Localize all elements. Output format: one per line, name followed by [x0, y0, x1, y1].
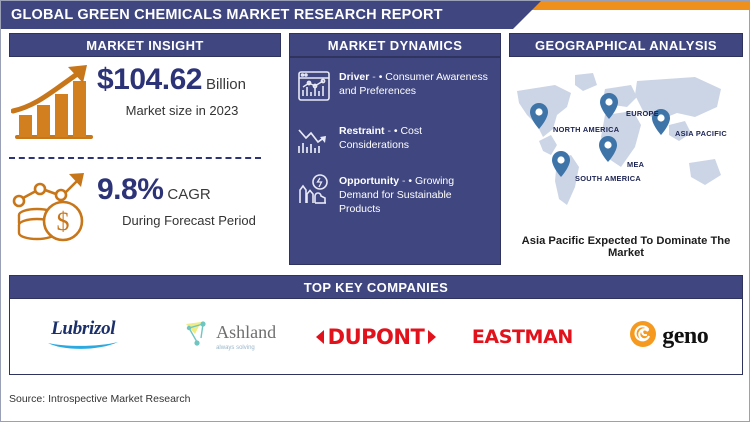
dashboard-analytics-icon — [296, 68, 332, 104]
market-dynamics-body: Driver - • Consumer Awareness and Prefer… — [289, 57, 501, 265]
hand-idea-growth-icon — [296, 172, 332, 208]
ashland-wordmark: Ashland — [216, 322, 276, 343]
bar-chart-growth-icon — [11, 63, 95, 148]
ashland-molecule-icon — [183, 318, 213, 355]
svg-text:$: $ — [57, 207, 70, 236]
market-size-value: $104.62 — [97, 65, 202, 95]
company-logo-ashland: Ashland always solving — [160, 307, 300, 367]
market-size-text: $104.62Billion Market size in 2023 — [97, 65, 281, 118]
cagr-row: $ 9.8%CAGR During Forecast Period — [9, 153, 281, 249]
market-insight-body: $104.62Billion Market size in 2023 — [9, 57, 281, 265]
company-logo-dupont: DUPONT — [306, 307, 446, 367]
cagr-text: 9.8%CAGR During Forecast Period — [97, 175, 281, 228]
declining-chart-icon — [296, 122, 332, 158]
header-banner: GLOBAL GREEN CHEMICALS MARKET RESEARCH R… — [1, 1, 541, 29]
company-logo-lubrizol: Lubrizol — [13, 307, 153, 367]
eastman-wordmark: EASTMAN — [472, 326, 573, 348]
market-dynamics-heading: MARKET DYNAMICS — [289, 33, 501, 57]
dynamics-opportunity-label: Opportunity — [339, 175, 399, 187]
map-label-south-america: SOUTH AMERICA — [575, 174, 641, 183]
dynamics-driver-text: Driver - • Consumer Awareness and Prefer… — [339, 68, 492, 104]
cagr-value: 9.8% — [97, 175, 163, 205]
market-size-row: $104.62Billion Market size in 2023 — [9, 57, 281, 153]
top-key-companies-body: Lubrizol — [9, 299, 743, 375]
market-size-unit: Billion — [202, 76, 246, 93]
world-map — [509, 63, 743, 223]
geographical-analysis-panel: GEOGRAPHICAL ANALYSIS — [509, 33, 743, 265]
geographical-caption: Asia Pacific Expected To Dominate The Ma… — [509, 235, 743, 259]
map-label-north-america: NORTH AMERICA — [553, 125, 619, 134]
dupont-wordmark: DUPONT — [328, 325, 425, 349]
market-insight-heading: MARKET INSIGHT — [9, 33, 281, 57]
dynamics-restraint-label: Restraint — [339, 125, 385, 137]
company-logo-eastman: EASTMAN — [452, 307, 592, 367]
top-key-companies-heading: TOP KEY COMPANIES — [9, 275, 743, 299]
company-logo-geno: geno — [599, 307, 739, 367]
source-footer: Source: Introspective Market Research — [9, 393, 191, 405]
lubrizol-wordmark: Lubrizol — [47, 318, 119, 340]
dynamics-driver-label: Driver — [339, 71, 369, 83]
market-dynamics-panel: MARKET DYNAMICS Driver - • Con — [289, 33, 501, 265]
geno-spiral-icon — [629, 320, 657, 353]
page-header: GLOBAL GREEN CHEMICALS MARKET RESEARCH R… — [1, 1, 750, 29]
page-title: GLOBAL GREEN CHEMICALS MARKET RESEARCH R… — [1, 7, 443, 23]
dynamics-restraint-separator: - — [387, 125, 391, 137]
top-key-companies-panel: TOP KEY COMPANIES Lubrizol — [9, 275, 743, 375]
map-label-mea: MEA — [627, 160, 644, 169]
dynamics-item-restraint: Restraint - • Cost Considerations — [296, 122, 492, 158]
dynamics-item-driver: Driver - • Consumer Awareness and Prefer… — [296, 68, 492, 104]
map-label-asia-pacific: ASIA PACIFIC — [675, 129, 727, 138]
dynamics-restraint-text: Restraint - • Cost Considerations — [339, 122, 492, 158]
cagr-caption: During Forecast Period — [97, 213, 281, 228]
ashland-tagline: always solving — [216, 345, 276, 351]
dynamics-driver-separator: - — [372, 71, 376, 83]
geographical-analysis-heading: GEOGRAPHICAL ANALYSIS — [509, 33, 743, 57]
market-insight-panel: MARKET INSIGHT $104.62Bi — [9, 33, 281, 265]
market-size-caption: Market size in 2023 — [97, 103, 281, 118]
dynamics-opportunity-separator: - — [402, 175, 406, 187]
map-label-europe: EUROPE — [626, 109, 659, 118]
geographical-analysis-body: NORTH AMERICA EUROPE ASIA PACIFIC MEA SO… — [509, 57, 743, 265]
dynamics-item-opportunity: Opportunity - • Growing Demand for Susta… — [296, 172, 492, 217]
lubrizol-swoosh-icon — [47, 338, 119, 356]
geno-wordmark: geno — [662, 323, 708, 350]
infographic-page: GLOBAL GREEN CHEMICALS MARKET RESEARCH R… — [0, 0, 750, 422]
coins-dollar-trend-icon: $ — [11, 171, 95, 248]
dynamics-opportunity-text: Opportunity - • Growing Demand for Susta… — [339, 172, 492, 217]
cagr-unit: CAGR — [163, 186, 210, 203]
dupont-left-arrow-icon — [316, 325, 325, 349]
dupont-right-arrow-icon — [427, 325, 436, 349]
